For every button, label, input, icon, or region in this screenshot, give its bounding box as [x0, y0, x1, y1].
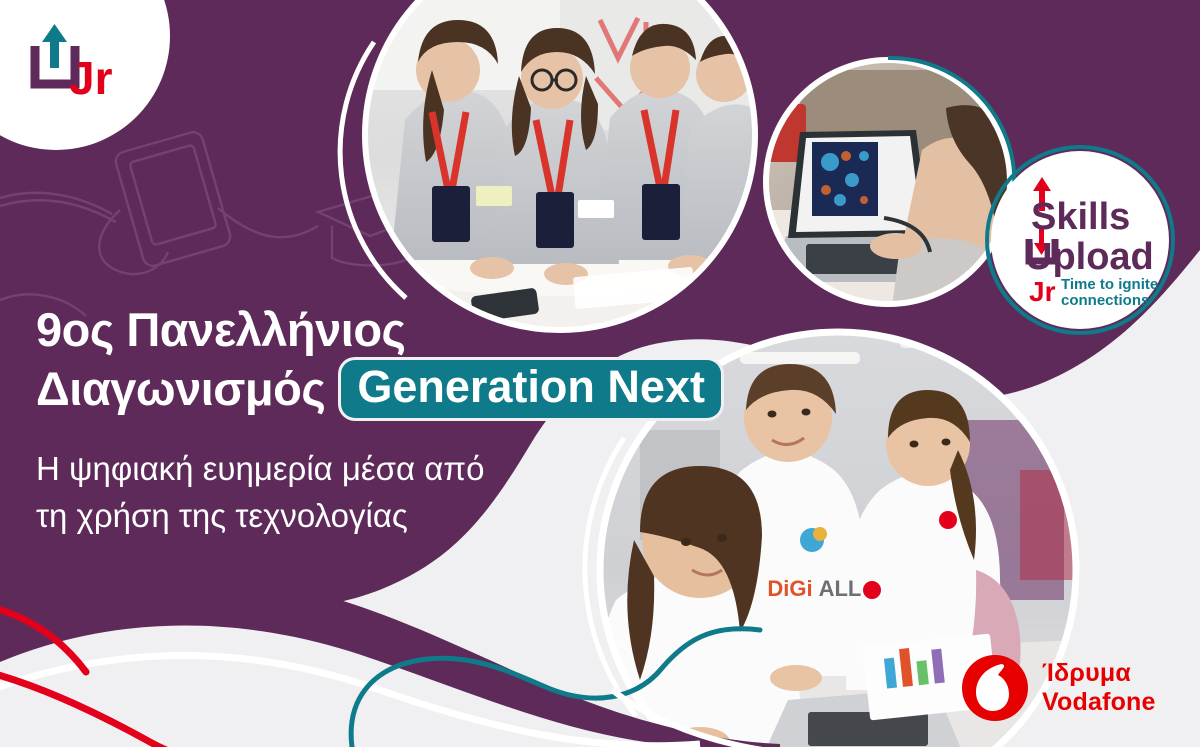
up-arrow-icon — [42, 24, 67, 68]
subtitle-text: Η ψηφιακή ευημερία μέσα από τη χρήση της… — [36, 446, 796, 540]
upload-word: Upload — [1025, 236, 1154, 278]
tagline-line-1: Time to ignite — [1061, 276, 1158, 293]
generation-next-badge: Generation Next — [341, 360, 721, 418]
headline-block: 9ος Πανελλήνιος Διαγωνισμός Generation N… — [36, 300, 796, 540]
skills-upload-jr-logo: Skills Upload Jr Time to ignite connecti… — [985, 145, 1175, 335]
vodafone-foundation-text: Ίδρυμα Vodafone — [1042, 659, 1156, 718]
skills-upload-jr-artwork: Skills Upload Jr Time to ignite connecti… — [985, 145, 1175, 335]
promo-banner: DiGi ALL — [0, 0, 1200, 747]
jr-wordmark: Jr — [69, 52, 113, 104]
headline-line-2: Διαγωνισμός — [36, 359, 325, 418]
headline-line-1: 9ος Πανελλήνιος — [36, 300, 796, 359]
skills-word: Skills — [1031, 196, 1130, 238]
headline-row-2: Διαγωνισμός Generation Next — [36, 359, 796, 418]
jr-word: Jr — [1029, 276, 1056, 307]
tagline-line-2: connections — [1061, 292, 1149, 309]
svg-text:ALL: ALL — [819, 576, 862, 601]
skills-upload-jr-mini-logo: Jr — [25, 22, 121, 104]
vodafone-speechmark-icon — [962, 655, 1028, 721]
jr-logo-icon: Jr — [25, 22, 121, 104]
vodafone-foundation-logo: Ίδρυμα Vodafone — [962, 655, 1156, 721]
svg-text:DiGi: DiGi — [767, 576, 812, 601]
